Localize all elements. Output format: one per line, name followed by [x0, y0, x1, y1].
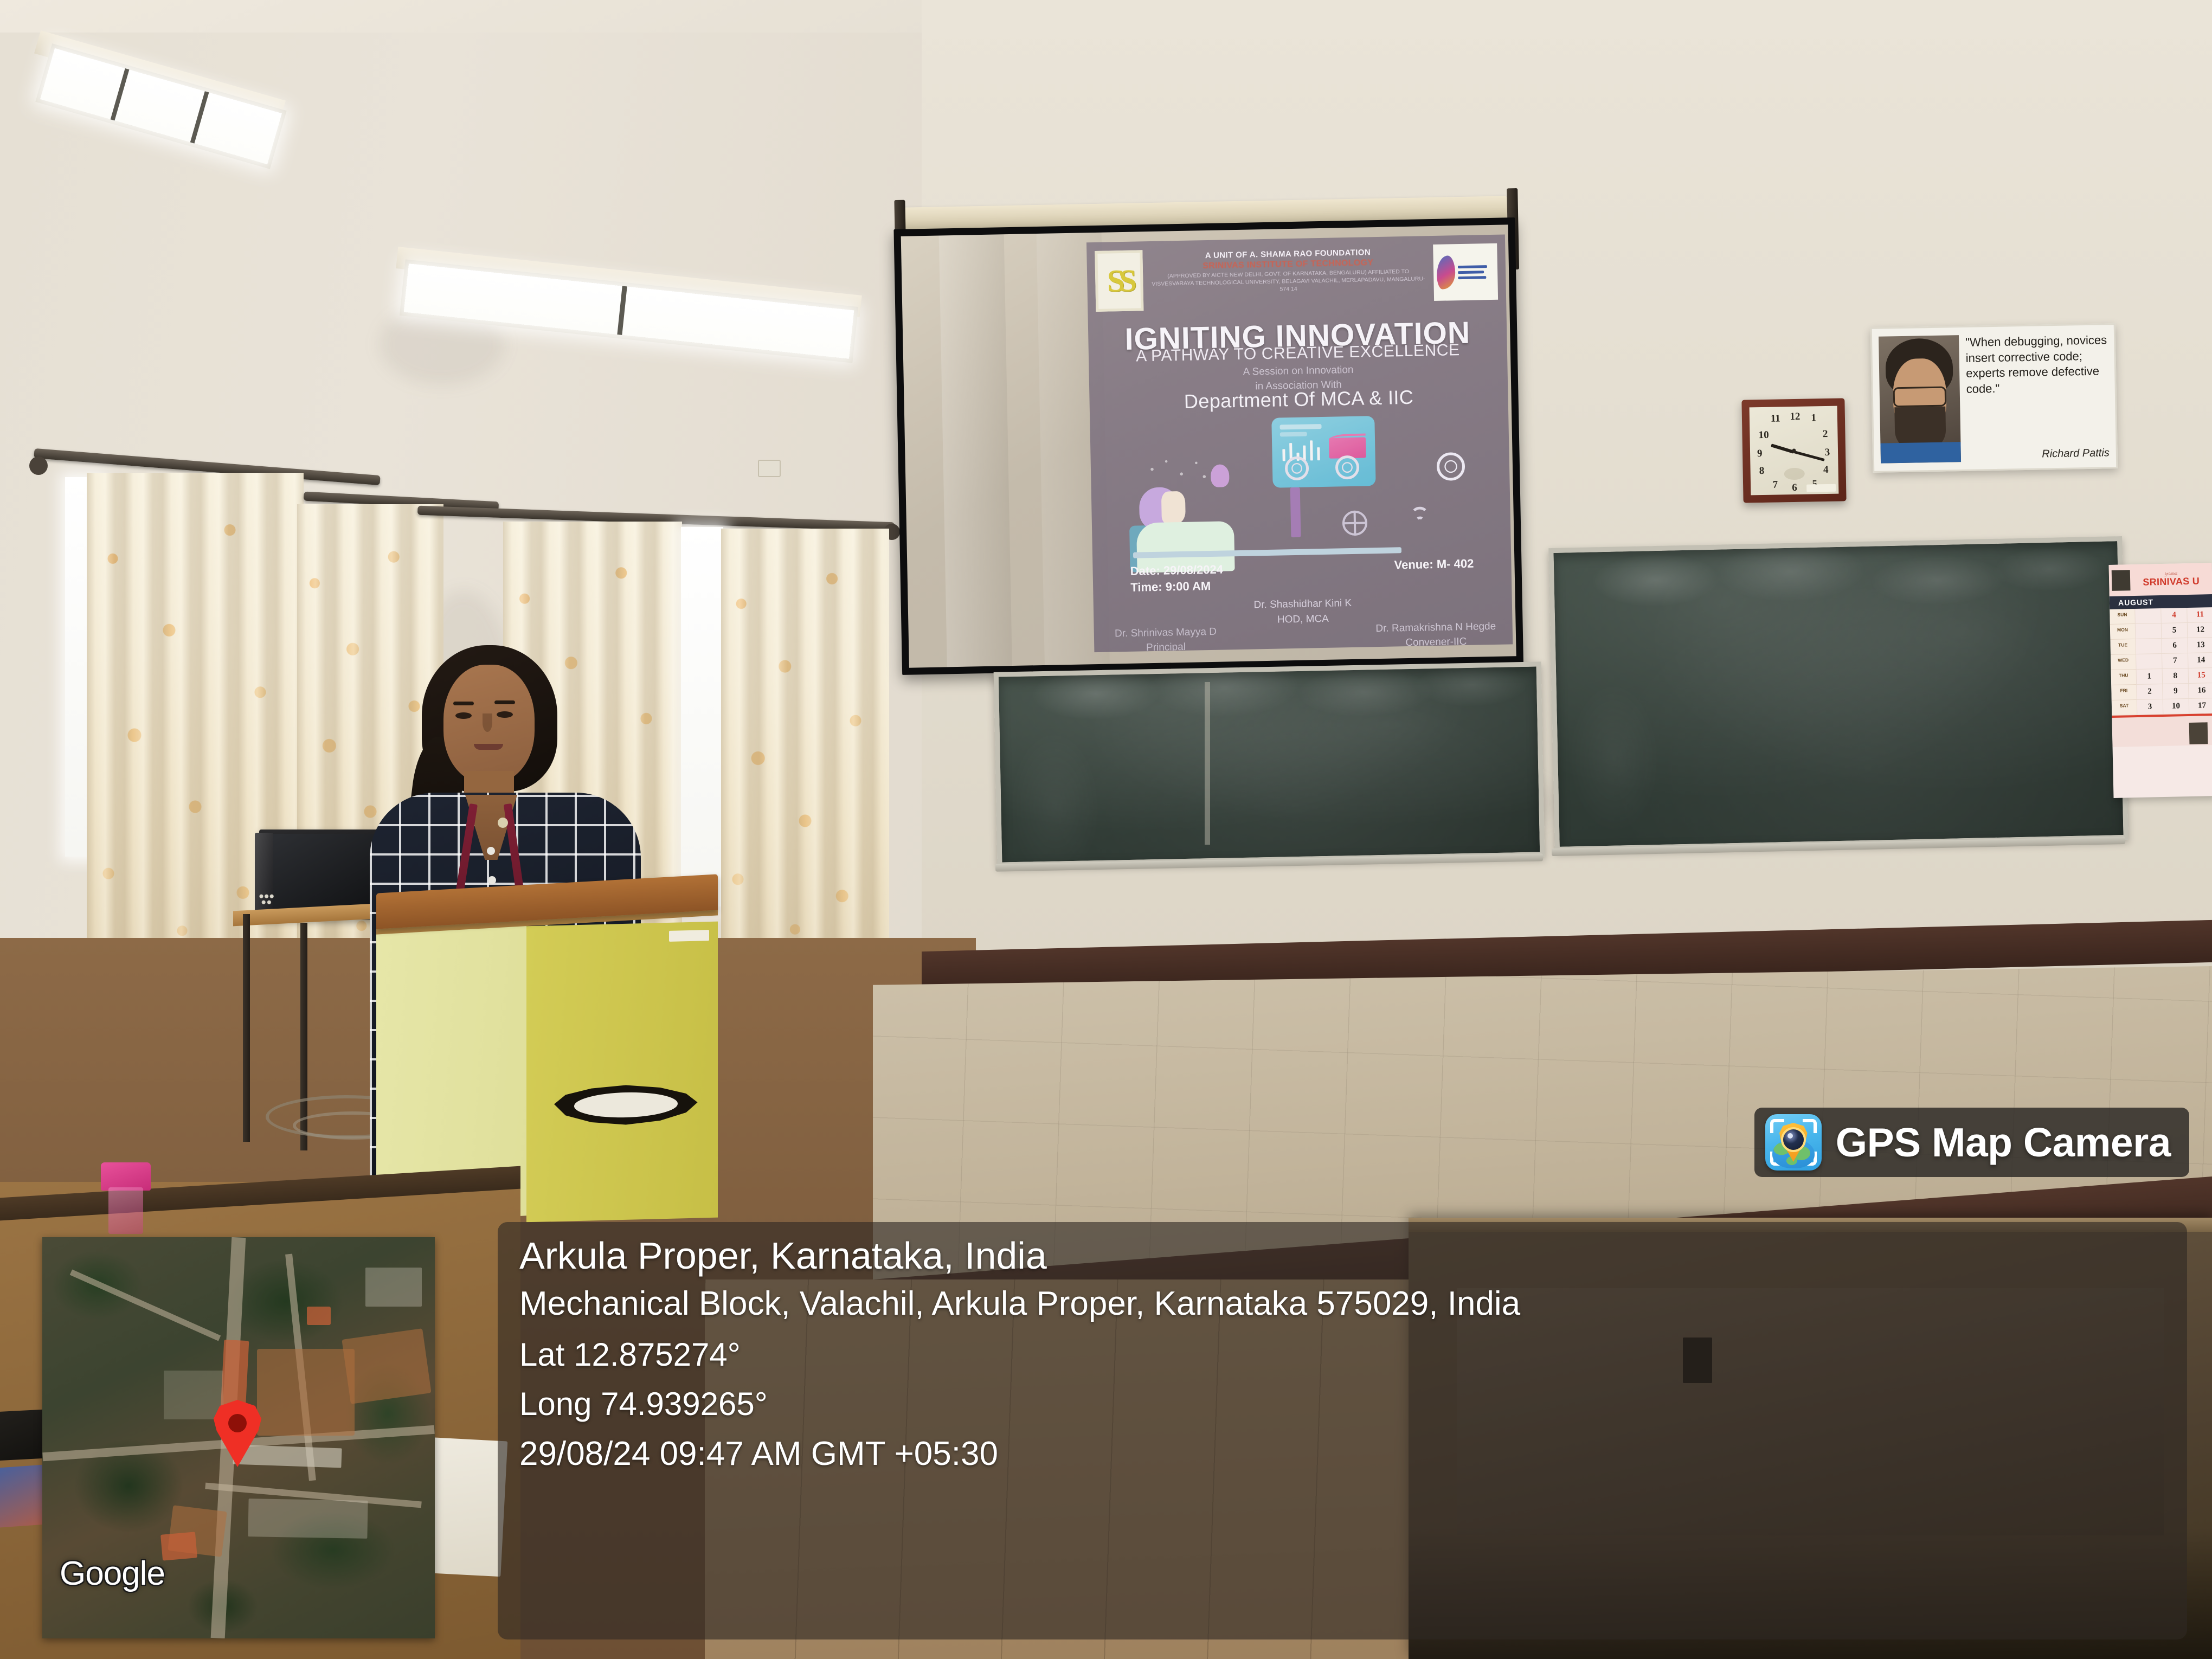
- institute-logo-icon: SS: [1095, 250, 1143, 312]
- calendar-date: 15: [2188, 668, 2212, 684]
- presenter-nose: [483, 713, 492, 732]
- clock-brand-mark: [1784, 468, 1805, 480]
- globe-icon: [1342, 511, 1368, 536]
- lightbulb-icon: [1211, 465, 1230, 488]
- camera-lens-icon: [1783, 1129, 1804, 1150]
- calendar-date: 16: [2188, 683, 2212, 699]
- dashboard-graphic-icon: [1272, 416, 1377, 488]
- app-brand-name: GPS Map Camera: [1836, 1119, 2171, 1166]
- calendar-date: 2: [2136, 684, 2163, 700]
- presenter-eye: [497, 711, 513, 718]
- screen-surface: SS A UNIT OF A. SHAMA RAO FOUNDATION SRI…: [901, 224, 1516, 667]
- screen-frame: SS A UNIT OF A. SHAMA RAO FOUNDATION SRI…: [893, 217, 1523, 675]
- gps-latitude: Lat 12.875274°: [519, 1338, 2165, 1372]
- calendar-portrait-icon: [2112, 570, 2131, 591]
- gps-address: Mechanical Block, Valachil, Arkula Prope…: [519, 1286, 2165, 1321]
- gear-icon: [1285, 456, 1309, 481]
- calendar-date: [2135, 639, 2162, 654]
- quote-text: "When debugging, novices insert correcti…: [1965, 332, 2108, 397]
- wall-switch: [758, 460, 781, 477]
- calendar-date: 5: [2161, 623, 2188, 639]
- presentation-slide: SS A UNIT OF A. SHAMA RAO FOUNDATION SRI…: [1086, 234, 1513, 652]
- clock-numeral: 7: [1772, 479, 1778, 491]
- slide-convener-name: Dr. Ramakrishna N Hegde: [1375, 619, 1496, 636]
- clock-numeral: 8: [1759, 465, 1765, 477]
- presenter-mouth: [474, 744, 503, 750]
- clock-numeral: 11: [1771, 413, 1780, 425]
- presenter-eyebrow: [494, 700, 515, 704]
- slide-date-time: Date: 29/08/2024 Time: 9:00 AM: [1130, 562, 1223, 596]
- slide-principal-role: Principal: [1115, 639, 1217, 652]
- slide-time: Time: 9:00 AM: [1130, 578, 1224, 596]
- podium: [376, 884, 718, 1220]
- google-attribution: Google: [60, 1554, 165, 1593]
- table-leg: [243, 914, 250, 1142]
- calendar-date: 8: [2162, 668, 2189, 684]
- institute-logo-text: SS: [1107, 265, 1132, 297]
- clock-numeral: 6: [1792, 482, 1797, 494]
- sparkle-icon: [1145, 454, 1211, 490]
- presenter-eyebrow: [453, 702, 474, 705]
- clock-numeral: 12: [1790, 411, 1800, 423]
- bottle-cap: [101, 1162, 151, 1191]
- calendar-day-label: SAT: [2112, 700, 2137, 716]
- clock-numeral: 1: [1811, 413, 1816, 425]
- slide-convener: Dr. Ramakrishna N Hegde Convener-IIC: [1375, 619, 1496, 651]
- gps-map-camera-app-icon: [1765, 1114, 1822, 1171]
- calendar-day-label: THU: [2111, 670, 2137, 685]
- projector-screen: SS A UNIT OF A. SHAMA RAO FOUNDATION SRI…: [885, 196, 1534, 685]
- calendar-date: 1: [2136, 669, 2163, 685]
- wifi-icon: [1404, 506, 1436, 525]
- gps-map-camera-brand-bar: GPS Map Camera: [1754, 1108, 2189, 1177]
- clock-numeral: 10: [1758, 429, 1769, 441]
- slide-venue: Venue: M- 402: [1394, 557, 1474, 573]
- podium-label: [669, 930, 709, 942]
- calendar-date: 7: [2162, 653, 2188, 669]
- quote-poster: "When debugging, novices insert correcti…: [1870, 323, 2118, 473]
- quote-author: Richard Pattis: [1967, 447, 2110, 462]
- calendar-date: 12: [2187, 622, 2212, 638]
- map-road: [70, 1269, 221, 1341]
- calendar-date: 3: [2137, 699, 2163, 715]
- water-bottle: [97, 1162, 155, 1234]
- clock-pivot: [1792, 448, 1796, 452]
- presenter-button: [488, 876, 496, 884]
- calendar-date: 17: [2189, 698, 2212, 714]
- map-location-pin-icon: [211, 1400, 263, 1467]
- gear-icon: [1437, 452, 1465, 480]
- slide-date: Date: 29/08/2024: [1130, 562, 1223, 580]
- calendar-day-label: WED: [2111, 654, 2136, 670]
- podium-emblem: [554, 1083, 698, 1127]
- window-light-gap-right: [681, 527, 723, 906]
- map-building: [248, 1499, 368, 1539]
- wall-calendar: ಶ್ರೀನಿವಾಸ SRINIVAS U AUGUST SUN 4 11 MON…: [2109, 563, 2212, 798]
- calendar-date: [2134, 608, 2161, 624]
- map-building: [365, 1268, 422, 1307]
- calendar-footer-portrait-icon: [2189, 722, 2208, 744]
- chalkboard-hook: [1205, 682, 1210, 845]
- presenter-eye: [455, 712, 472, 719]
- slide-principal-name: Dr. Shrinivas Mayya D: [1115, 625, 1217, 641]
- clock-hour-hand: [1771, 443, 1795, 454]
- podium-panel-right: [526, 922, 718, 1223]
- curtain-right-b: [721, 529, 889, 946]
- gps-longitude: Long 74.939265°: [519, 1387, 2165, 1421]
- bottle-body: [108, 1187, 143, 1234]
- calendar-day-label: MON: [2110, 624, 2136, 640]
- calendar-date: 4: [2160, 608, 2187, 623]
- wall-clock: 12 1 2 3 4 5 6 7 8 9 10 11: [1741, 398, 1846, 503]
- calendar-date: 14: [2188, 653, 2212, 668]
- map-building-roof: [307, 1307, 331, 1325]
- calendar-day-label: SUN: [2110, 609, 2135, 625]
- gps-map-thumbnail[interactable]: Google: [42, 1237, 435, 1638]
- calendar-grid: SUN 4 11 MON 5 12 TUE 6 13 WED 7 14 THU …: [2110, 607, 2212, 716]
- calendar-date: 10: [2163, 699, 2189, 715]
- clock-minute-hand: [1793, 451, 1824, 461]
- calendar-date: 6: [2161, 638, 2188, 654]
- clock-face: 12 1 2 3 4 5 6 7 8 9 10 11: [1750, 406, 1839, 496]
- monitor-buttons[interactable]: [258, 892, 274, 905]
- calendar-date: [2135, 623, 2162, 639]
- monitor-stand: [1290, 487, 1301, 537]
- photo-canvas: SS A UNIT OF A. SHAMA RAO FOUNDATION SRI…: [0, 0, 2212, 1659]
- calendar-date: [2136, 654, 2162, 670]
- clock-label: [1806, 484, 1836, 492]
- slide-header-approval: (APPROVED BY AICTE NEW DELHI, GOVT. OF K…: [1149, 267, 1427, 295]
- map-building-roof: [160, 1532, 197, 1560]
- clock-numeral: 2: [1823, 428, 1828, 440]
- gps-place: Arkula Proper, Karnataka, India: [519, 1236, 2165, 1276]
- clock-numeral: 9: [1757, 448, 1763, 460]
- map-open-ground: [257, 1349, 355, 1436]
- calendar-date: 13: [2187, 638, 2212, 653]
- curtain-rod-finial: [29, 456, 48, 475]
- slide-header: SS A UNIT OF A. SHAMA RAO FOUNDATION SRI…: [1086, 243, 1507, 313]
- presenter-pendant: [498, 818, 508, 828]
- chalkboard-left: [994, 661, 1545, 867]
- calendar-day-label: TUE: [2110, 639, 2136, 655]
- slide-principal: Dr. Shrinivas Mayya D Principal: [1115, 625, 1217, 652]
- calendar-date: 9: [2162, 684, 2189, 699]
- calendar-day-label: FRI: [2111, 685, 2137, 700]
- iic-logo-icon: [1433, 243, 1498, 301]
- clock-numeral: 4: [1823, 464, 1829, 476]
- map-open-ground: [342, 1328, 431, 1404]
- gear-icon: [1335, 455, 1360, 480]
- calendar-brand: SRINIVAS U: [2133, 576, 2209, 588]
- calendar-footer: [2112, 713, 2212, 747]
- clock-numeral: 3: [1825, 446, 1830, 458]
- gps-timestamp: 29/08/24 09:47 AM GMT +05:30: [519, 1436, 2165, 1471]
- calendar-date: 11: [2187, 607, 2212, 623]
- calendar-header: ಶ್ರೀನಿವಾಸ SRINIVAS U: [2109, 563, 2212, 596]
- chalkboard-right: [1548, 536, 2128, 852]
- slide-illustration: [1127, 411, 1473, 553]
- slide-convener-role: Convener-IIC: [1376, 634, 1496, 651]
- quote-author-photo: [1879, 335, 1961, 464]
- slide-header-text: A UNIT OF A. SHAMA RAO FOUNDATION SRINIV…: [1149, 245, 1427, 295]
- gps-info-panel: Arkula Proper, Karnataka, India Mechanic…: [498, 1222, 2187, 1639]
- presenter-button: [487, 847, 495, 855]
